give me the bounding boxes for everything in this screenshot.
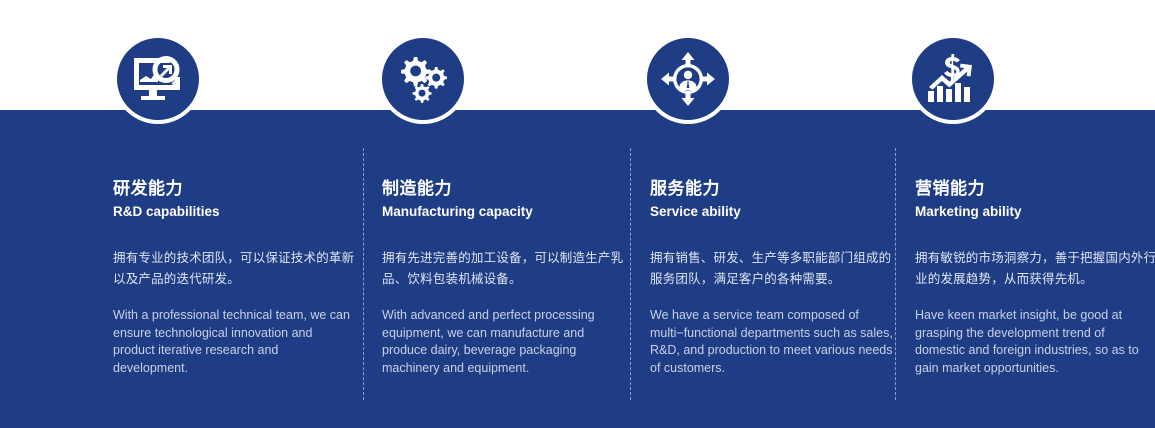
column-manufacturing: 制造能力 Manufacturing capacity 拥有先进完善的加工设备，… (382, 178, 625, 377)
column-body-en: With advanced and perfect processing equ… (382, 307, 625, 377)
column-body-cn: 拥有销售、研发、生产等多职能部门组成的服务团队，满足客户的各种需要。 (650, 248, 893, 290)
column-body-cn: 拥有敏锐的市场洞察力，善于把握国内外行业的发展趋势，从而获得先机。 (915, 248, 1155, 290)
column-title-cn: 营销能力 (915, 178, 1155, 200)
gears-icon (397, 55, 449, 103)
person-four-arrows-icon (661, 52, 715, 106)
icon-circle-marketing (908, 34, 998, 124)
growth-chart-dollar-icon (926, 54, 980, 104)
column-title-en: Marketing ability (915, 203, 1155, 221)
capabilities-infographic: 研发能力 R&D capabilities 拥有专业的技术团队，可以保证技术的革… (0, 0, 1155, 428)
column-marketing: 营销能力 Marketing ability 拥有敏锐的市场洞察力，善于把握国内… (915, 178, 1155, 377)
column-body-en: Have keen market insight, be good at gra… (915, 307, 1155, 377)
column-title-en: Service ability (650, 203, 893, 221)
column-title-cn: 制造能力 (382, 178, 625, 200)
column-service: 服务能力 Service ability 拥有销售、研发、生产等多职能部门组成的… (650, 178, 893, 377)
column-divider-2 (630, 148, 631, 400)
column-divider-1 (363, 148, 364, 400)
icon-circle-manufacturing (378, 34, 468, 124)
column-body-cn: 拥有专业的技术团队，可以保证技术的革新以及产品的迭代研发。 (113, 248, 356, 290)
icon-circle-service (643, 34, 733, 124)
icon-circle-rnd (113, 34, 203, 124)
column-body-en: With a professional technical team, we c… (113, 307, 356, 377)
monitor-chart-magnifier-icon (131, 54, 185, 104)
column-body-en: We have a service team composed of multi… (650, 307, 893, 377)
column-divider-3 (895, 148, 896, 400)
column-title-cn: 研发能力 (113, 178, 356, 200)
column-body-cn: 拥有先进完善的加工设备，可以制造生产乳品、饮料包装机械设备。 (382, 248, 625, 290)
column-title-cn: 服务能力 (650, 178, 893, 200)
column-rnd: 研发能力 R&D capabilities 拥有专业的技术团队，可以保证技术的革… (113, 178, 356, 377)
column-title-en: Manufacturing capacity (382, 203, 625, 221)
column-title-en: R&D capabilities (113, 203, 356, 221)
